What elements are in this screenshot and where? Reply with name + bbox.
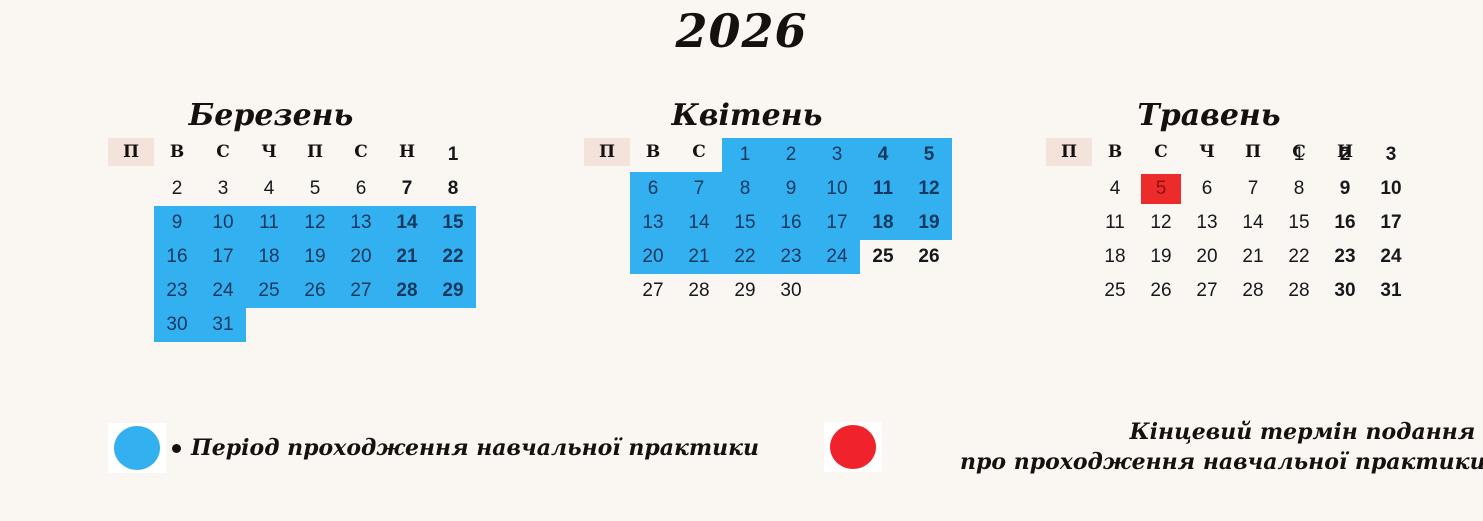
day-cell-26[interactable]: 26	[1138, 274, 1184, 308]
day-cell-31[interactable]: 31	[1368, 274, 1414, 308]
blue-circle-icon	[114, 426, 160, 470]
day-cell-16[interactable]: 16	[154, 240, 200, 274]
day-cell-1[interactable]: 1	[430, 138, 476, 172]
day-cell-1[interactable]: 1	[722, 138, 768, 172]
day-cell-5[interactable]: 5	[292, 172, 338, 206]
day-cell-4[interactable]: 4	[246, 172, 292, 206]
day-cell-24[interactable]: 24	[1368, 240, 1414, 274]
day-cell-5[interactable]: 5	[1138, 172, 1184, 206]
legend: Період проходження навчальної практики К…	[0, 415, 1483, 495]
day-cell-28[interactable]: 28	[676, 274, 722, 308]
day-cell-3[interactable]: 3	[200, 172, 246, 206]
day-cell-27[interactable]: 27	[338, 274, 384, 308]
day-cell-2[interactable]: 2	[1322, 138, 1368, 172]
day-cell-13[interactable]: 13	[338, 206, 384, 240]
day-cell-14[interactable]: 14	[384, 206, 430, 240]
day-cell-14[interactable]: 14	[1230, 206, 1276, 240]
day-cell-18[interactable]: 18	[246, 240, 292, 274]
weekday-header-row: ПВСЧПСН	[1046, 138, 1092, 166]
day-cell-18[interactable]: 18	[1092, 240, 1138, 274]
day-cell-9[interactable]: 9	[154, 206, 200, 240]
days-grid: 1234567891011121314151617181920212223242…	[1092, 138, 1138, 308]
day-cell-29[interactable]: 29	[430, 274, 476, 308]
days-grid: 1234567891011121314151617181920212223242…	[154, 138, 200, 342]
day-cell-18[interactable]: 18	[860, 206, 906, 240]
weekday-header-4: П	[1230, 142, 1276, 162]
day-cell-17[interactable]: 17	[200, 240, 246, 274]
day-cell-3[interactable]: 3	[1368, 138, 1414, 172]
day-cell-25[interactable]: 25	[1092, 274, 1138, 308]
day-cell-19[interactable]: 19	[292, 240, 338, 274]
day-cell-24[interactable]: 24	[200, 274, 246, 308]
day-cell-28[interactable]: 28	[1230, 274, 1276, 308]
day-cell-23[interactable]: 23	[768, 240, 814, 274]
legend-label-blue: Період проходження навчальної практики	[191, 433, 759, 463]
weekday-header-3: Ч	[246, 142, 292, 162]
day-cell-25[interactable]: 25	[246, 274, 292, 308]
day-cell-6[interactable]: 6	[630, 172, 676, 206]
calendar-months: Березень ПВСЧПСН 12345678910111213141516…	[0, 96, 1483, 396]
month-title: Квітень	[584, 96, 910, 138]
day-cell-30[interactable]: 30	[154, 308, 200, 342]
day-cell-12[interactable]: 12	[1138, 206, 1184, 240]
day-cell-31[interactable]: 31	[200, 308, 246, 342]
day-cell-26[interactable]: 26	[906, 240, 952, 274]
day-cell-10[interactable]: 10	[1368, 172, 1414, 206]
month-title: Березень	[108, 96, 434, 138]
day-cell-3[interactable]: 3	[814, 138, 860, 172]
weekday-header-0: П	[584, 142, 630, 162]
day-cell-7[interactable]: 7	[384, 172, 430, 206]
day-cell-20[interactable]: 20	[338, 240, 384, 274]
day-cell-8[interactable]: 8	[430, 172, 476, 206]
day-cell-28[interactable]: 28	[384, 274, 430, 308]
legend-item-deadline: Кінцевий термін подання документів про п…	[824, 417, 1483, 477]
day-cell-8[interactable]: 8	[722, 172, 768, 206]
day-cell-16[interactable]: 16	[1322, 206, 1368, 240]
day-cell-23[interactable]: 23	[1322, 240, 1368, 274]
day-cell-30[interactable]: 30	[1322, 274, 1368, 308]
day-cell-20[interactable]: 20	[630, 240, 676, 274]
day-cell-22[interactable]: 22	[430, 240, 476, 274]
month-kviten: Квітень ПВСЧПСН 123456789101112131415161…	[584, 96, 910, 308]
day-cell-12[interactable]: 12	[292, 206, 338, 240]
day-cell-11[interactable]: 11	[246, 206, 292, 240]
day-cell-6[interactable]: 6	[338, 172, 384, 206]
weekday-header-row: ПВСЧПСН	[584, 138, 630, 166]
day-cell-13[interactable]: 13	[630, 206, 676, 240]
day-cell-30[interactable]: 30	[768, 274, 814, 308]
day-cell-25[interactable]: 25	[860, 240, 906, 274]
weekday-header-2: С	[1138, 142, 1184, 162]
day-cell-12[interactable]: 12	[906, 172, 952, 206]
day-cell-4[interactable]: 4	[860, 138, 906, 172]
day-cell-28[interactable]: 28	[1276, 274, 1322, 308]
day-cell-26[interactable]: 26	[292, 274, 338, 308]
day-cell-10[interactable]: 10	[814, 172, 860, 206]
day-cell-29[interactable]: 29	[722, 274, 768, 308]
legend-swatch-red	[824, 422, 882, 472]
day-cell-19[interactable]: 19	[906, 206, 952, 240]
weekday-header-0: П	[108, 142, 154, 162]
day-cell-22[interactable]: 22	[1276, 240, 1322, 274]
days-grid: 1234567891011121314151617181920212223242…	[630, 138, 676, 308]
weekday-header-row: ПВСЧПСН	[108, 138, 154, 166]
day-cell-7[interactable]: 7	[676, 172, 722, 206]
weekday-header-0: П	[1046, 142, 1092, 162]
day-cell-5[interactable]: 5	[906, 138, 952, 172]
day-cell-14[interactable]: 14	[676, 206, 722, 240]
day-cell-21[interactable]: 21	[1230, 240, 1276, 274]
day-cell-2[interactable]: 2	[768, 138, 814, 172]
legend-swatch-blue	[108, 423, 166, 473]
weekday-header-3: Ч	[1184, 142, 1230, 162]
day-cell-22[interactable]: 22	[722, 240, 768, 274]
day-cell-4[interactable]: 4	[1092, 172, 1138, 206]
day-cell-15[interactable]: 15	[430, 206, 476, 240]
legend-label-red-line1: Кінцевий термін подання документів	[1130, 419, 1483, 445]
day-cell-2[interactable]: 2	[154, 172, 200, 206]
legend-item-practice-period: Період проходження навчальної практики	[108, 423, 759, 473]
day-cell-17[interactable]: 17	[814, 206, 860, 240]
bullet-icon	[172, 444, 181, 453]
day-cell-13[interactable]: 13	[1184, 206, 1230, 240]
month-berezen: Березень ПВСЧПСН 12345678910111213141516…	[108, 96, 434, 342]
day-cell-27[interactable]: 27	[1184, 274, 1230, 308]
month-grid: ПВСЧПСН 12345678910111213141516171819202…	[108, 138, 434, 342]
day-cell-21[interactable]: 21	[676, 240, 722, 274]
weekday-header-2: С	[200, 142, 246, 162]
month-traven: Травень ПВСЧПСН 123456789101112131415161…	[1046, 96, 1372, 308]
day-cell-27[interactable]: 27	[630, 274, 676, 308]
day-cell-9[interactable]: 9	[768, 172, 814, 206]
day-cell-11[interactable]: 11	[1092, 206, 1138, 240]
weekday-header-2: С	[676, 142, 722, 162]
day-cell-9[interactable]: 9	[1322, 172, 1368, 206]
day-cell-7[interactable]: 7	[1230, 172, 1276, 206]
day-cell-11[interactable]: 11	[860, 172, 906, 206]
weekday-header-4: П	[292, 142, 338, 162]
page-title: 2026	[0, 4, 1483, 58]
legend-label-red: Кінцевий термін подання документів про п…	[960, 417, 1483, 477]
weekday-header-6: Н	[384, 142, 430, 162]
day-cell-21[interactable]: 21	[384, 240, 430, 274]
day-cell-8[interactable]: 8	[1276, 172, 1322, 206]
day-cell-1[interactable]: 1	[1276, 138, 1322, 172]
day-cell-17[interactable]: 17	[1368, 206, 1414, 240]
month-grid: ПВСЧПСН 12345678910111213141516171819202…	[1046, 138, 1372, 308]
day-cell-10[interactable]: 10	[200, 206, 246, 240]
day-cell-6[interactable]: 6	[1184, 172, 1230, 206]
red-highlight-block	[1141, 174, 1181, 204]
red-circle-icon	[830, 425, 876, 469]
day-cell-20[interactable]: 20	[1184, 240, 1230, 274]
day-cell-16[interactable]: 16	[768, 206, 814, 240]
day-cell-23[interactable]: 23	[154, 274, 200, 308]
weekday-header-5: С	[338, 142, 384, 162]
day-cell-19[interactable]: 19	[1138, 240, 1184, 274]
month-grid: ПВСЧПСН 12345678910111213141516171819202…	[584, 138, 910, 308]
day-cell-15[interactable]: 15	[1276, 206, 1322, 240]
day-cell-24[interactable]: 24	[814, 240, 860, 274]
legend-label-red-line2: про проходження навчальної практики на к…	[960, 447, 1483, 477]
day-cell-15[interactable]: 15	[722, 206, 768, 240]
month-title: Травень	[1046, 96, 1372, 138]
